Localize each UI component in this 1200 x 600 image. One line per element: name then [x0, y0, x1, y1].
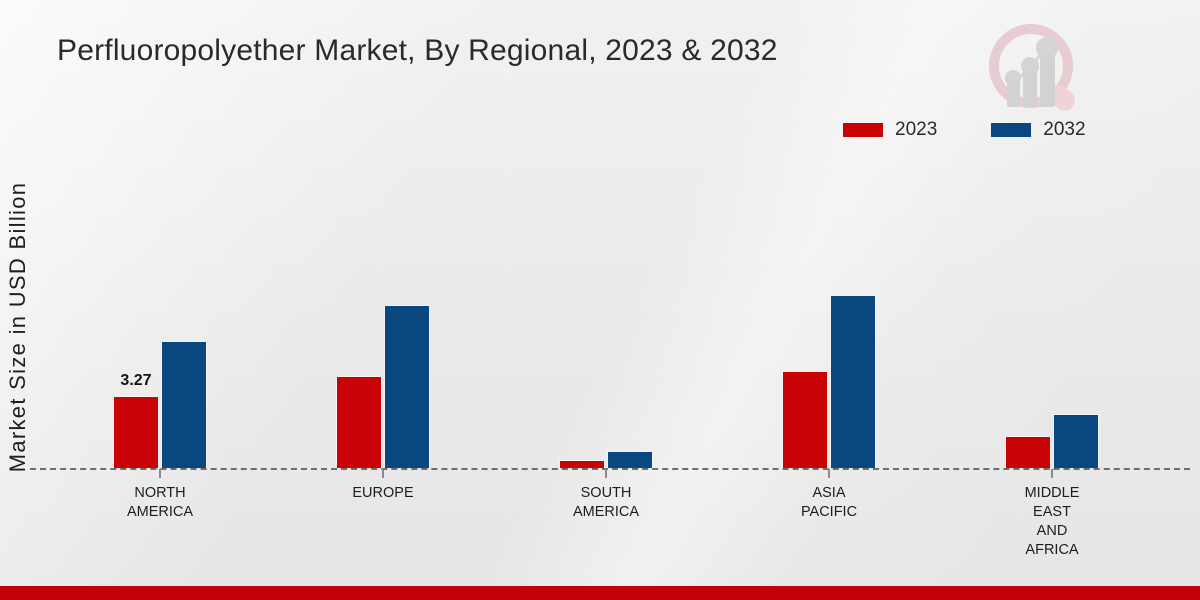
legend-swatch-2032 — [991, 123, 1031, 137]
y-axis-title-text: Market Size in USD Billion — [5, 182, 31, 473]
bar-asia-pacific-2023[interactable] — [782, 371, 828, 468]
axis-tick-asia-pacific — [828, 469, 830, 478]
category-label-asia-pacific: ASIA PACIFIC — [801, 484, 857, 522]
chart-legend: 2023 2032 — [843, 120, 1086, 139]
bars-europe — [333, 150, 433, 468]
bar-north-america-2023[interactable]: 3.27 — [113, 396, 159, 468]
axis-tick-europe — [382, 469, 384, 478]
legend-swatch-2023 — [843, 123, 883, 137]
legend-label-2032: 2032 — [1043, 120, 1085, 139]
bar-south-america-2032[interactable] — [607, 451, 653, 468]
bars-middle-east-and-africa — [1002, 150, 1102, 468]
category-label-line: EUROPE — [352, 484, 413, 503]
category-label-line: AFRICA — [1025, 541, 1080, 560]
category-label-europe: EUROPE — [352, 484, 413, 503]
bar-group-south-america: SOUTH AMERICA — [556, 150, 656, 468]
category-label-line: MIDDLE — [1025, 484, 1080, 503]
category-label-line: EAST — [1025, 503, 1080, 522]
bar-europe-2023[interactable] — [336, 376, 382, 468]
bar-europe-2032[interactable] — [384, 305, 430, 468]
bar-middle-east-and-africa-2032[interactable] — [1053, 414, 1099, 468]
plot-area: 3.27 NORTH AMERICA EUROPE SOUTH AMERICA — [30, 150, 1190, 470]
bar-north-america-2032[interactable] — [161, 341, 207, 468]
category-label-line: NORTH — [127, 484, 193, 503]
bar-group-north-america: 3.27 NORTH AMERICA — [110, 150, 210, 468]
footer-accent-bar — [0, 586, 1200, 600]
category-label-line: ASIA — [801, 484, 857, 503]
category-label-middle-east-and-africa: MIDDLE EAST AND AFRICA — [1025, 484, 1080, 560]
bar-south-america-2023[interactable] — [559, 460, 605, 468]
legend-label-2023: 2023 — [895, 120, 937, 139]
axis-tick-north-america — [159, 469, 161, 478]
bars-south-america — [556, 150, 656, 468]
bar-group-asia-pacific: ASIA PACIFIC — [779, 150, 879, 468]
category-label-line: AMERICA — [127, 503, 193, 522]
bar-value-label-north-america-2023: 3.27 — [120, 372, 151, 390]
page-title: Perfluoropolyether Market, By Regional, … — [57, 34, 778, 68]
category-label-line: AMERICA — [573, 503, 639, 522]
category-label-south-america: SOUTH AMERICA — [573, 484, 639, 522]
bar-middle-east-and-africa-2023[interactable] — [1005, 436, 1051, 468]
bars-north-america: 3.27 — [110, 150, 210, 468]
category-label-line: PACIFIC — [801, 503, 857, 522]
category-label-north-america: NORTH AMERICA — [127, 484, 193, 522]
bar-group-europe: EUROPE — [333, 150, 433, 468]
axis-baseline — [30, 468, 1190, 470]
legend-item-2023[interactable]: 2023 — [843, 120, 937, 139]
category-label-line: AND — [1025, 522, 1080, 541]
magnifier-bar-chart-logo-icon — [983, 22, 1087, 116]
legend-item-2032[interactable]: 2032 — [991, 120, 1085, 139]
bars-asia-pacific — [779, 150, 879, 468]
category-label-line: SOUTH — [573, 484, 639, 503]
axis-tick-middle-east-and-africa — [1051, 469, 1053, 478]
bar-asia-pacific-2032[interactable] — [830, 295, 876, 468]
bar-group-middle-east-and-africa: MIDDLE EAST AND AFRICA — [1002, 150, 1102, 468]
axis-tick-south-america — [605, 469, 607, 478]
